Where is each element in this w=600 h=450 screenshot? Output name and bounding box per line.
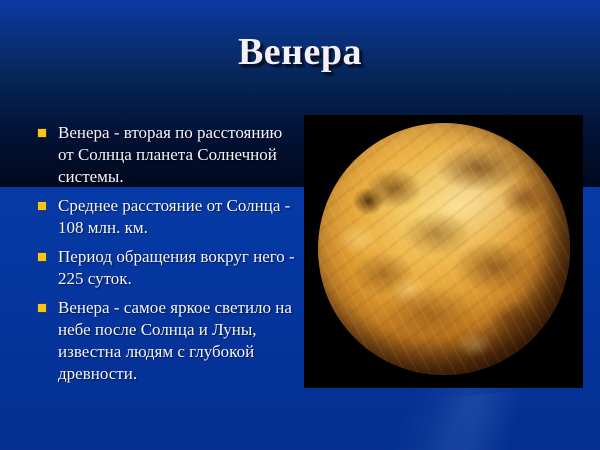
slide-title: Венера — [0, 30, 600, 74]
list-item-label: Венера - вторая по расстоянию от Солнца … — [58, 123, 282, 186]
list-item: Венера - самое яркое светило на небе пос… — [30, 297, 302, 385]
venus-image-frame — [304, 115, 583, 388]
list-item-label: Венера - самое яркое светило на небе пос… — [58, 298, 292, 383]
venus-limb-shading — [318, 123, 570, 375]
list-item: Венера - вторая по расстоянию от Солнца … — [30, 122, 302, 188]
square-bullet-icon — [38, 304, 46, 312]
list-item-label: Период обращения вокруг него - 225 суток… — [58, 247, 295, 288]
square-bullet-icon — [38, 202, 46, 210]
bullet-list: Венера - вторая по расстоянию от Солнца … — [30, 122, 302, 392]
list-item-label: Среднее расстояние от Солнца - 108 млн. … — [58, 196, 290, 237]
presentation-slide: Венера Венера - вторая по расстоянию от … — [0, 0, 600, 450]
square-bullet-icon — [38, 253, 46, 261]
list-item: Период обращения вокруг него - 225 суток… — [30, 246, 302, 290]
square-bullet-icon — [38, 129, 46, 137]
venus-planet-photo — [318, 123, 570, 375]
list-item: Среднее расстояние от Солнца - 108 млн. … — [30, 195, 302, 239]
